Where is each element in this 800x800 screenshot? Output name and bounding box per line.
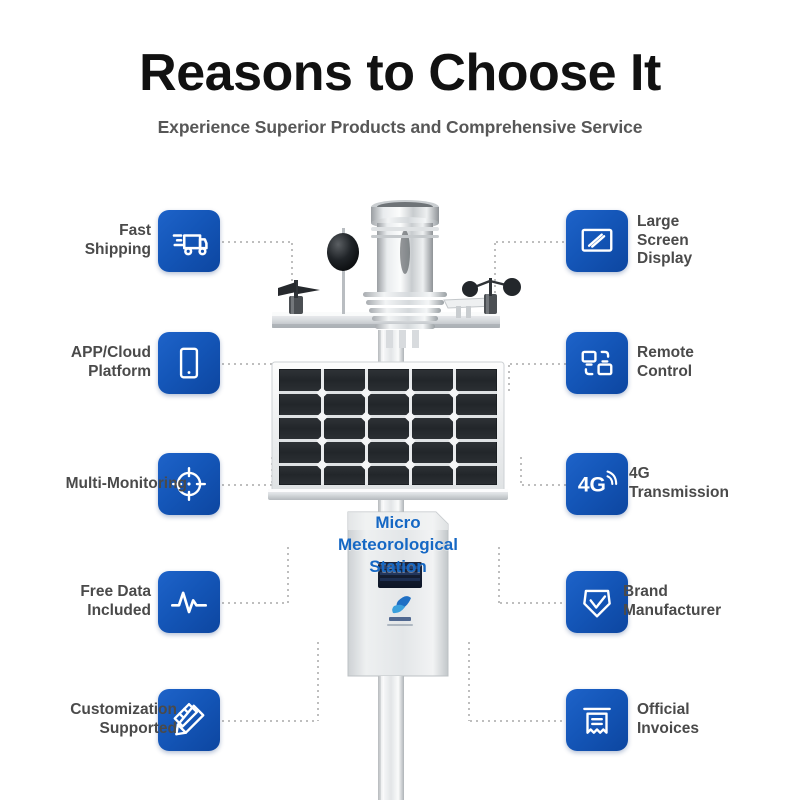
feature-brand-manufacturer[interactable]: Brand Manufacturer — [566, 571, 800, 633]
page-title: Reasons to Choose It — [0, 0, 800, 101]
radiation-ball-sensor — [327, 228, 359, 314]
feature-customization-supported[interactable]: Customization Supported — [0, 689, 220, 751]
solar-panel — [268, 362, 508, 500]
connector-left-1 — [220, 241, 292, 243]
delivery-truck-icon[interactable] — [158, 210, 220, 272]
connector-left-5 — [220, 720, 318, 722]
connector-left-2 — [220, 363, 282, 365]
tablet-icon[interactable] — [158, 332, 220, 394]
feature-label: Free Data Included — [80, 583, 158, 621]
feature-large-screen-display[interactable]: Large Screen Display — [566, 210, 800, 272]
header: Reasons to Choose It Experience Superior… — [0, 0, 800, 138]
feature-label: APP/Cloud Platform — [71, 344, 158, 382]
screen-display-icon[interactable] — [566, 210, 628, 272]
4g-badge-text: 4G — [578, 474, 606, 497]
feature-fast-shipping[interactable]: Fast Shipping — [0, 210, 220, 272]
connector-left-4-v — [287, 545, 289, 603]
radiation-shield-plates — [363, 292, 447, 348]
connector-right-1 — [494, 241, 566, 243]
feature-4g-transmission[interactable]: 4G 4G Transmission — [566, 453, 800, 515]
feature-multi-monitoring[interactable]: Multi-Monitoring — [0, 453, 220, 515]
connector-left-5-v — [317, 640, 319, 721]
product-overlay-label: Micro Meteorological Station — [298, 512, 498, 577]
feature-label: Fast Shipping — [85, 222, 158, 260]
light-sensor-panel — [444, 298, 494, 318]
page-subtitle: Experience Superior Products and Compreh… — [0, 101, 800, 138]
feature-label: Multi-Monitoring — [66, 475, 194, 494]
feature-label: Customization Supported — [70, 701, 184, 739]
crossbar-mount — [272, 312, 500, 328]
feature-app-cloud-platform[interactable]: APP/Cloud Platform — [0, 332, 220, 394]
connector-right-1-v — [494, 241, 496, 311]
feature-remote-control[interactable]: Remote Control — [566, 332, 800, 394]
connector-left-1-v — [291, 241, 293, 311]
rain-gauge-cylinder — [371, 200, 439, 295]
feature-free-data-included[interactable]: Free Data Included — [0, 571, 220, 633]
connector-left-2-v — [281, 363, 283, 391]
feature-official-invoices[interactable]: Official Invoices — [566, 689, 800, 751]
anemometer-cups — [462, 278, 521, 314]
4g-signal-icon[interactable]: 4G — [566, 453, 628, 515]
connector-right-3 — [520, 484, 566, 486]
remote-control-icon[interactable] — [566, 332, 628, 394]
connector-right-2 — [508, 363, 566, 365]
wind-vane-sensor — [278, 280, 320, 314]
feature-label: Large Screen Display — [628, 213, 692, 270]
connector-right-5-v — [468, 640, 470, 721]
infographic-canvas: Reasons to Choose It Experience Superior… — [0, 0, 800, 800]
connector-right-5 — [468, 720, 566, 722]
connector-left-3 — [220, 484, 272, 486]
feature-label: Remote Control — [628, 344, 694, 382]
connector-right-4-v — [498, 545, 500, 603]
invoice-receipt-icon[interactable] — [566, 689, 628, 751]
connector-left-3-v — [271, 455, 273, 485]
feature-label: Official Invoices — [628, 701, 699, 739]
connector-right-2-v — [508, 363, 510, 391]
feature-label: Brand Manufacturer — [614, 583, 721, 621]
connector-right-4 — [498, 602, 566, 604]
pulse-waveform-icon[interactable] — [158, 571, 220, 633]
connector-right-3-v — [520, 455, 522, 485]
brand-logo — [387, 596, 413, 626]
feature-label: 4G Transmission — [620, 465, 729, 503]
connector-left-4 — [220, 602, 288, 604]
